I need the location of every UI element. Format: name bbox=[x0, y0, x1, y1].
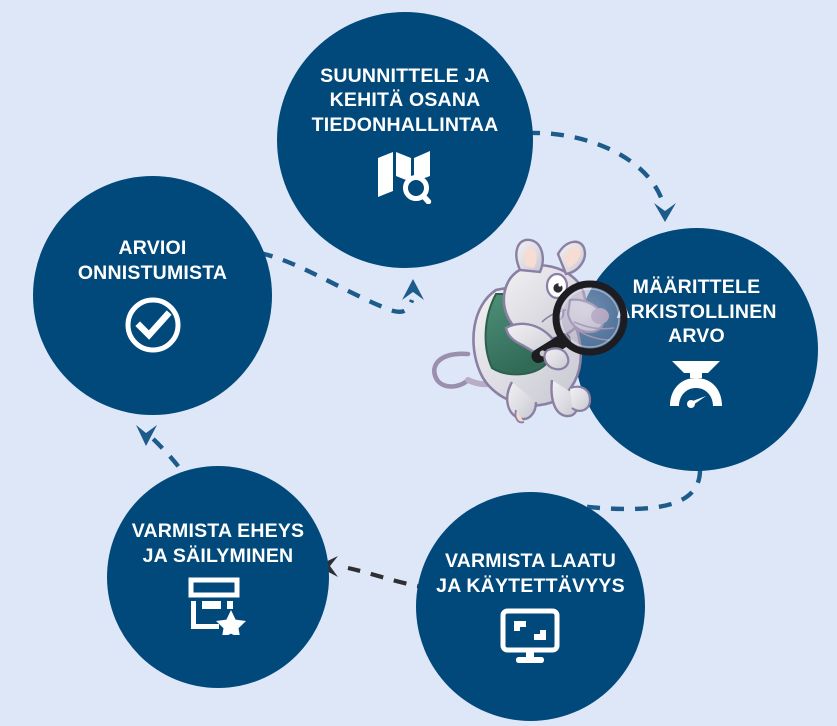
connector-suunnittele-to-maarittele bbox=[527, 133, 676, 222]
node-label-maarittele: MÄÄRITTELE ARKISTOLLINEN ARVO bbox=[616, 275, 776, 349]
document-star-icon bbox=[187, 577, 249, 635]
node-label-suunnittele: SUUNNITTELE JA KEHITÄ OSANA TIEDONHALLIN… bbox=[312, 64, 499, 138]
infographic-canvas: SUUNNITTELE JA KEHITÄ OSANA TIEDONHALLIN… bbox=[0, 0, 837, 726]
map-search-icon bbox=[374, 146, 436, 204]
node-varmista-eheys-ja-sailyminen[interactable]: VARMISTA EHEYS JA SÄILYMINEN bbox=[107, 466, 329, 688]
node-varmista-laatu-ja-kaytettavyys[interactable]: VARMISTA LAATU JA KÄYTETTÄVYYS bbox=[416, 492, 645, 721]
mouse-with-magnifying-glass-illustration bbox=[424, 232, 632, 436]
node-label-eheys: VARMISTA EHEYS JA SÄILYMINEN bbox=[132, 519, 305, 568]
monitor-icon bbox=[499, 608, 561, 664]
node-arvioi-onnistumista[interactable]: ARVIOI ONNISTUMISTA bbox=[33, 176, 272, 415]
gauge-icon bbox=[666, 358, 726, 416]
check-circle-icon bbox=[123, 295, 183, 355]
connector-laatu-to-eheys bbox=[317, 556, 430, 588]
node-suunnittele-ja-kehita-osana-tiedonhallintaa[interactable]: SUUNNITTELE JA KEHITÄ OSANA TIEDONHALLIN… bbox=[277, 12, 533, 268]
node-label-arvioi: ARVIOI ONNISTUMISTA bbox=[78, 236, 227, 285]
node-label-laatu: VARMISTA LAATU JA KÄYTETTÄVYYS bbox=[436, 549, 625, 598]
